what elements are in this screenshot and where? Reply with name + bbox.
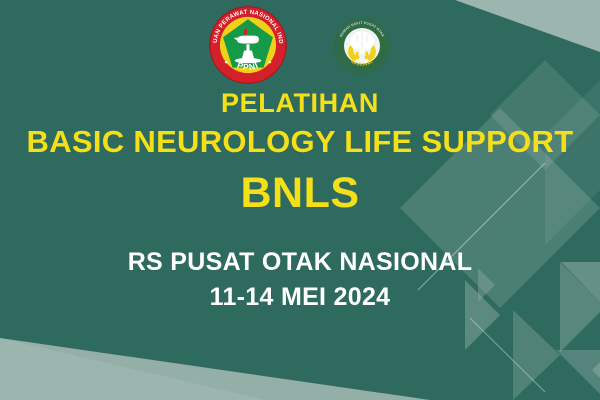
arrow-chevron-e (556, 350, 600, 394)
venue-text: RS PUSAT OTAK NASIONAL (0, 246, 600, 278)
ppni-dot-left (225, 61, 227, 63)
rs-pusat-otak-nasional-logo: RUMAH SAKIT PUSAT OTAK NASIONAL (333, 17, 391, 75)
hairline-diagonal-lower (470, 318, 545, 392)
date-text: 11-14 MEI 2024 (0, 281, 600, 313)
bottom-left-light-wedge (0, 338, 265, 400)
poster-canvas: PERSATUAN PERAWAT NASIONAL INDONESIA PPN… (0, 0, 600, 400)
arrow-triangle-b (513, 310, 560, 400)
title-basic-neurology-life-support: BASIC NEUROLOGY LIFE SUPPORT (0, 122, 600, 162)
ppni-logo: PERSATUAN PERAWAT NASIONAL INDONESIA PPN… (209, 6, 287, 84)
ppni-dot-right (269, 61, 271, 63)
heading-pelatihan: PELATIHAN (0, 86, 600, 120)
logo-row: PERSATUAN PERAWAT NASIONAL INDONESIA PPN… (0, 4, 600, 86)
poster-text-block: PELATIHAN BASIC NEUROLOGY LIFE SUPPORT B… (0, 86, 600, 313)
acronym-bnls: BNLS (0, 168, 600, 218)
bottom-light-sweep (0, 338, 430, 400)
arrow-triangle-f (592, 362, 600, 378)
